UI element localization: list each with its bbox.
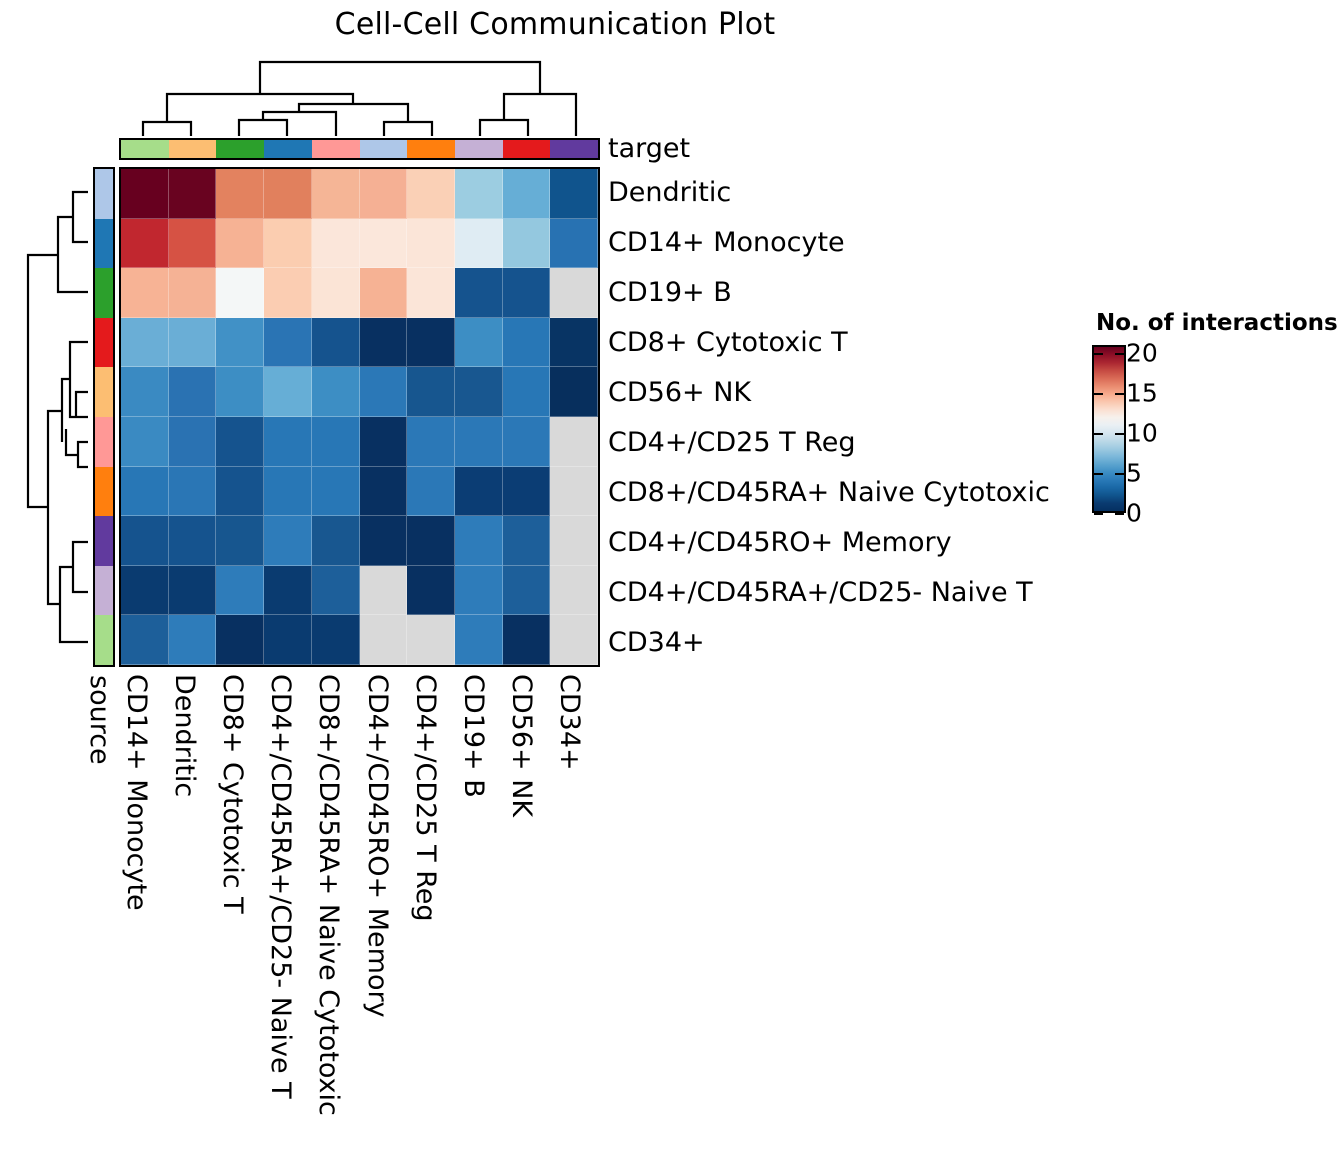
colorbar-tick-mark	[1094, 393, 1103, 395]
heatmap-cell[interactable]	[216, 566, 264, 616]
target-annotation-cell	[455, 140, 503, 158]
heatmap-cell[interactable]	[455, 417, 503, 467]
colorbar-tick-label: 20	[1126, 341, 1158, 366]
colorbar-tick-mark	[1094, 433, 1103, 435]
source-annotation-cell	[95, 367, 113, 417]
heatmap-cell[interactable]	[169, 367, 217, 417]
heatmap-cell[interactable]	[312, 169, 360, 219]
heatmap-cell[interactable]	[121, 169, 169, 219]
heatmap-cell[interactable]	[264, 219, 312, 269]
heatmap-cell[interactable]	[407, 467, 455, 517]
source-annotation-strip	[93, 167, 115, 667]
heatmap-cell[interactable]	[503, 169, 551, 219]
heatmap-cell[interactable]	[216, 516, 264, 566]
heatmap-cell[interactable]	[550, 169, 598, 219]
colorbar-gradient	[1092, 345, 1126, 513]
source-annotation-cell	[95, 219, 113, 269]
heatmap-cell[interactable]	[216, 318, 264, 368]
heatmap-cell[interactable]	[216, 268, 264, 318]
heatmap-cell[interactable]	[550, 467, 598, 517]
column-label-list: CD14+ MonocyteDendriticCD8+ Cytotoxic TC…	[119, 672, 600, 1152]
target-annotation-cell	[216, 140, 264, 158]
heatmap-cell[interactable]	[169, 615, 217, 665]
heatmap-cell[interactable]	[312, 367, 360, 417]
row-label: Dendritic	[608, 167, 1128, 217]
heatmap-cell[interactable]	[407, 318, 455, 368]
heatmap-cell[interactable]	[360, 169, 408, 219]
heatmap-cell[interactable]	[550, 367, 598, 417]
colorbar-title: No. of interactions	[1096, 310, 1338, 336]
target-annotation-cell	[169, 140, 217, 158]
heatmap-cell[interactable]	[121, 219, 169, 269]
heatmap-cell[interactable]	[455, 169, 503, 219]
colorbar-tick-label: 5	[1126, 461, 1142, 486]
heatmap-cell[interactable]	[550, 417, 598, 467]
heatmap-cell[interactable]	[216, 169, 264, 219]
heatmap-cell[interactable]	[264, 268, 312, 318]
heatmap-cell[interactable]	[169, 566, 217, 616]
row-label: CD56+ NK	[608, 367, 1128, 417]
source-annotation-label-wrap: source	[89, 675, 119, 815]
heatmap-cell[interactable]	[264, 615, 312, 665]
heatmap-cell[interactable]	[121, 268, 169, 318]
heatmap-cell[interactable]	[455, 615, 503, 665]
target-annotation-strip	[119, 138, 600, 160]
heatmap-cell[interactable]	[550, 268, 598, 318]
heatmap-cell[interactable]	[503, 367, 551, 417]
heatmap-cell[interactable]	[455, 219, 503, 269]
heatmap-cell[interactable]	[312, 467, 360, 517]
heatmap-cell[interactable]	[550, 219, 598, 269]
heatmap-cell[interactable]	[264, 169, 312, 219]
colorbar-tick-mark	[1115, 393, 1124, 395]
heatmap-cell[interactable]	[407, 367, 455, 417]
heatmap-cell[interactable]	[503, 318, 551, 368]
heatmap-cell[interactable]	[503, 467, 551, 517]
heatmap-cell[interactable]	[360, 566, 408, 616]
heatmap-cell[interactable]	[264, 516, 312, 566]
heatmap-cell[interactable]	[169, 318, 217, 368]
heatmap-cell[interactable]	[407, 516, 455, 566]
source-annotation-cell	[95, 268, 113, 318]
heatmap-cell[interactable]	[407, 566, 455, 616]
heatmap-cell[interactable]	[503, 268, 551, 318]
heatmap-cell[interactable]	[121, 615, 169, 665]
clustermap-figure: Cell-Cell Communication Plot	[0, 0, 1344, 1152]
heatmap-cell[interactable]	[455, 318, 503, 368]
heatmap-cell[interactable]	[503, 615, 551, 665]
colorbar-tick-label: 0	[1126, 501, 1142, 526]
column-dendrogram	[119, 52, 600, 136]
source-annotation-cell	[95, 516, 113, 566]
source-annotation-cell	[95, 566, 113, 616]
heatmap-cell[interactable]	[121, 516, 169, 566]
heatmap-cell[interactable]	[455, 516, 503, 566]
colorbar	[1092, 345, 1126, 513]
heatmap-cell[interactable]	[455, 467, 503, 517]
row-label: CD14+ Monocyte	[608, 217, 1128, 267]
heatmap-cell[interactable]	[503, 566, 551, 616]
heatmap-cell[interactable]	[455, 566, 503, 616]
row-label: CD8+ Cytotoxic T	[608, 317, 1128, 367]
heatmap-grid	[119, 167, 600, 667]
heatmap-cell[interactable]	[550, 318, 598, 368]
colorbar-tick-mark	[1094, 353, 1103, 355]
heatmap-cell[interactable]	[312, 615, 360, 665]
row-label: CD4+/CD45RA+/CD25- Naive T	[608, 567, 1128, 617]
heatmap-cell[interactable]	[360, 615, 408, 665]
heatmap-cell[interactable]	[264, 467, 312, 517]
colorbar-tick-label: 10	[1126, 421, 1158, 446]
heatmap-cell[interactable]	[312, 318, 360, 368]
heatmap-cell[interactable]	[264, 367, 312, 417]
heatmap-cell[interactable]	[312, 516, 360, 566]
source-annotation-label: source	[84, 675, 115, 765]
source-annotation-cell	[95, 417, 113, 467]
heatmap-cell[interactable]	[121, 318, 169, 368]
heatmap-cell[interactable]	[264, 566, 312, 616]
colorbar-tick-label: 15	[1126, 381, 1158, 406]
colorbar-tick-mark	[1094, 473, 1103, 475]
heatmap-cell[interactable]	[360, 318, 408, 368]
heatmap-cell[interactable]	[216, 615, 264, 665]
heatmap-cell[interactable]	[503, 516, 551, 566]
heatmap-cell[interactable]	[455, 367, 503, 417]
heatmap-cell[interactable]	[121, 417, 169, 467]
heatmap-cell[interactable]	[360, 268, 408, 318]
source-annotation-cell	[95, 318, 113, 368]
row-label: CD4+/CD25 T Reg	[608, 417, 1128, 467]
row-label: CD4+/CD45RO+ Memory	[608, 517, 1128, 567]
heatmap-cell[interactable]	[169, 516, 217, 566]
colorbar-tick-mark	[1115, 433, 1124, 435]
page-title: Cell-Cell Communication Plot	[0, 7, 1110, 42]
heatmap-cell[interactable]	[360, 219, 408, 269]
heatmap-cell[interactable]	[216, 467, 264, 517]
heatmap-cell[interactable]	[121, 367, 169, 417]
row-dendrogram	[18, 167, 88, 667]
heatmap-cell[interactable]	[550, 566, 598, 616]
row-label: CD8+/CD45RA+ Naive Cytotoxic	[608, 467, 1128, 517]
source-annotation-cell	[95, 615, 113, 665]
target-annotation-label: target	[608, 137, 690, 161]
heatmap-cell[interactable]	[407, 615, 455, 665]
row-label: CD34+	[608, 617, 1128, 667]
heatmap-cell[interactable]	[407, 219, 455, 269]
heatmap-cell[interactable]	[121, 566, 169, 616]
heatmap-cell[interactable]	[216, 417, 264, 467]
target-annotation-cell	[407, 140, 455, 158]
heatmap-cell[interactable]	[216, 219, 264, 269]
heatmap-cell[interactable]	[169, 169, 217, 219]
source-annotation-cell	[95, 467, 113, 517]
heatmap-cell[interactable]	[360, 417, 408, 467]
heatmap-cell[interactable]	[312, 566, 360, 616]
heatmap-cell[interactable]	[121, 467, 169, 517]
heatmap-cell[interactable]	[360, 467, 408, 517]
heatmap-cell[interactable]	[550, 615, 598, 665]
heatmap-cell[interactable]	[312, 219, 360, 269]
heatmap-cell[interactable]	[503, 219, 551, 269]
heatmap-cell[interactable]	[312, 417, 360, 467]
row-label-list: DendriticCD14+ MonocyteCD19+ BCD8+ Cytot…	[608, 167, 1128, 667]
heatmap-cell[interactable]	[407, 268, 455, 318]
heatmap-cell[interactable]	[550, 516, 598, 566]
heatmap-cell[interactable]	[312, 268, 360, 318]
heatmap-cell[interactable]	[169, 219, 217, 269]
heatmap-cell[interactable]	[407, 169, 455, 219]
target-annotation-cell	[550, 140, 598, 158]
row-label: CD19+ B	[608, 267, 1128, 317]
target-annotation-cell	[503, 140, 551, 158]
colorbar-tick-mark	[1115, 473, 1124, 475]
target-annotation-cell	[312, 140, 360, 158]
target-annotation-cell	[264, 140, 312, 158]
colorbar-tick-mark	[1115, 353, 1124, 355]
colorbar-tick-mark	[1115, 513, 1124, 515]
heatmap-cell[interactable]	[169, 467, 217, 517]
heatmap-cell[interactable]	[455, 268, 503, 318]
heatmap-cell[interactable]	[360, 367, 408, 417]
heatmap-cell[interactable]	[169, 417, 217, 467]
heatmap-cell[interactable]	[503, 417, 551, 467]
heatmap-cell[interactable]	[264, 417, 312, 467]
heatmap-cell[interactable]	[169, 268, 217, 318]
target-annotation-cell	[121, 140, 169, 158]
target-annotation-cell	[360, 140, 408, 158]
colorbar-tick-mark	[1094, 513, 1103, 515]
heatmap-cell[interactable]	[360, 516, 408, 566]
source-annotation-cell	[95, 169, 113, 219]
heatmap-cell[interactable]	[264, 318, 312, 368]
heatmap-cell[interactable]	[407, 417, 455, 467]
heatmap-cell[interactable]	[216, 367, 264, 417]
